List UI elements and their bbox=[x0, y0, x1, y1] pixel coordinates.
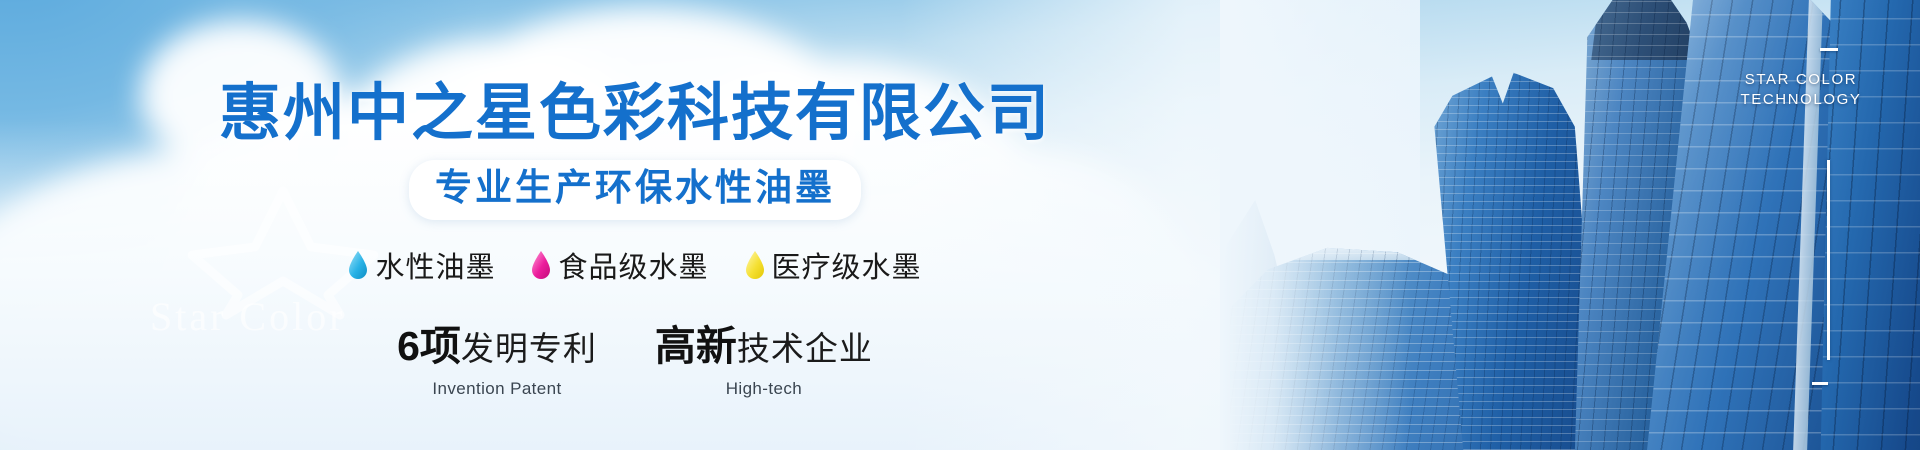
building-right-slab bbox=[1820, 0, 1920, 450]
badge-rest-text: 发明专利 bbox=[461, 330, 597, 367]
ink-item-medical-grade: 医疗级水墨 bbox=[745, 244, 922, 286]
badge-strong-text: 高新 bbox=[655, 323, 737, 369]
ink-drop-icon bbox=[745, 251, 765, 279]
ink-drop-icon bbox=[348, 251, 368, 279]
accent-dash-top bbox=[1820, 48, 1838, 51]
badge-invention-patent: 6项发明专利 Invention Patent bbox=[397, 326, 597, 399]
badge-high-tech: 高新技术企业 High-tech bbox=[655, 326, 873, 399]
ink-type-list: 水性油墨 食品级水墨 bbox=[0, 244, 1270, 286]
building-brand-overlay: STAR COLOR TECHNOLOGY bbox=[1696, 70, 1906, 110]
ink-label: 食品级水墨 bbox=[558, 244, 708, 286]
brand-overlay-line2: TECHNOLOGY bbox=[1696, 90, 1906, 110]
ink-label: 医疗级水墨 bbox=[772, 244, 922, 286]
slogan-text: 专业生产环保水性油墨 bbox=[435, 166, 835, 210]
ink-drop-icon bbox=[531, 251, 551, 279]
brand-overlay-line1: STAR COLOR bbox=[1696, 70, 1906, 90]
badge-strong-text: 6项 bbox=[397, 323, 461, 369]
accent-vertical-line bbox=[1827, 160, 1830, 360]
badge-subtitle: High-tech bbox=[655, 379, 873, 399]
accent-dash-bottom bbox=[1812, 382, 1828, 385]
ink-item-water-based: 水性油墨 bbox=[348, 244, 495, 286]
badge-rest-text: 技术企业 bbox=[737, 330, 873, 367]
banner-content: 惠州中之星色彩科技有限公司 专业生产环保水性油墨 bbox=[0, 0, 1270, 450]
company-hero-banner: Star Color STAR COLOR TECHNOLOGY 惠州中之星色彩… bbox=[0, 0, 1920, 450]
badge-subtitle: Invention Patent bbox=[397, 379, 597, 399]
company-title: 惠州中之星色彩科技有限公司 bbox=[0, 62, 1270, 152]
ink-label: 水性油墨 bbox=[375, 244, 495, 286]
slogan-pill: 专业生产环保水性油墨 bbox=[409, 160, 861, 220]
credential-badges: 6项发明专利 Invention Patent 高新技术企业 High-tech bbox=[0, 326, 1270, 399]
building-left-fade bbox=[1220, 0, 1410, 450]
ink-item-food-grade: 食品级水墨 bbox=[531, 244, 708, 286]
